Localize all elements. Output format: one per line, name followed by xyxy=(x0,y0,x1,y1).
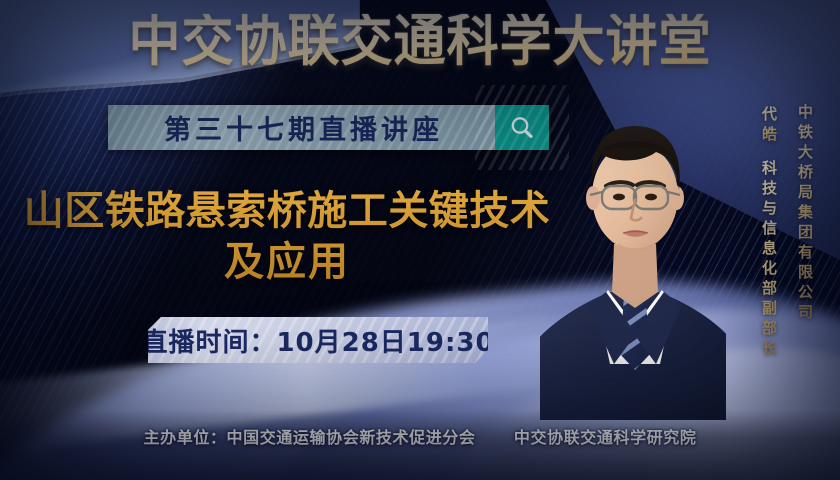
speaker-portrait-illustration xyxy=(540,96,726,420)
episode-label: 第三十七期直播讲座 xyxy=(160,108,443,147)
search-icon xyxy=(507,113,537,143)
live-time-plate: 直播时间：10月28日19:30 xyxy=(148,317,488,363)
speaker-portrait xyxy=(540,96,726,420)
speaker-name: 代皓 xyxy=(759,106,780,146)
organizer-secondary: 中交协联交通科学研究院 xyxy=(514,428,697,447)
lecture-title-line2: 及应用 xyxy=(0,237,574,288)
lecture-title-line1: 山区铁路悬索桥施工关键技术 xyxy=(0,186,574,237)
speaker-organization: 中铁大桥局集团有限公司 xyxy=(795,104,816,324)
episode-banner: 第三十七期直播讲座 xyxy=(108,105,549,150)
page-title: 中交协联交通科学大讲堂 xyxy=(29,14,810,70)
episode-banner-fill: 第三十七期直播讲座 xyxy=(108,105,495,150)
organizer-footer: 主办单位：中国交通运输协会新技术促进分会 中交协联交通科学研究院 xyxy=(0,424,840,448)
poster-canvas: 中交协联交通科学大讲堂 第三十七期直播讲座 山区铁路悬索桥施工关键技术 及应用 … xyxy=(0,0,840,480)
speaker-role: 科技与信息化部副部长 xyxy=(759,160,780,360)
live-time-label: 直播时间：10月28日19:30 xyxy=(148,322,488,359)
organizer-primary: 主办单位：中国交通运输协会新技术促进分会 xyxy=(144,428,476,447)
lecture-title: 山区铁路悬索桥施工关键技术 及应用 xyxy=(0,186,574,288)
